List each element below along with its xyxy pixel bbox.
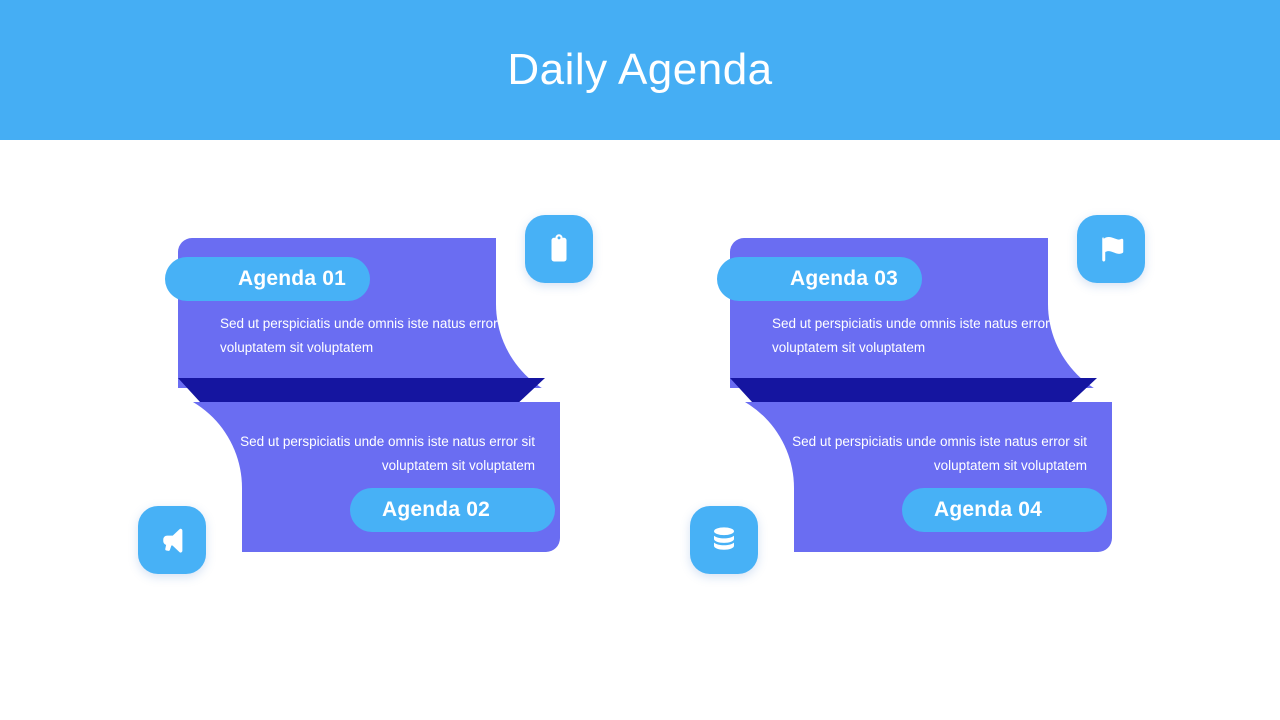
- slide-header: Daily Agenda: [0, 0, 1280, 140]
- clipboard-icon: [544, 234, 574, 264]
- page-title: Daily Agenda: [507, 48, 772, 92]
- agenda-02-description: Sed ut perspiciatis unde omnis iste natu…: [235, 430, 535, 478]
- agenda-02-label: Agenda 02: [382, 498, 490, 522]
- agenda-group-left: Sed ut perspiciatis unde omnis iste natu…: [130, 230, 690, 570]
- agenda-03-description: Sed ut perspiciatis unde omnis iste natu…: [772, 312, 1072, 360]
- agenda-03-icon-badge[interactable]: [1077, 215, 1145, 283]
- agenda-03-label-pill[interactable]: Agenda 03: [717, 257, 922, 301]
- agenda-02-icon-badge[interactable]: [138, 506, 206, 574]
- agenda-01-description: Sed ut perspiciatis unde omnis iste natu…: [220, 312, 520, 360]
- agenda-04-label-pill[interactable]: Agenda 04: [902, 488, 1107, 532]
- agenda-01-label: Agenda 01: [238, 267, 346, 291]
- agenda-04-icon-badge[interactable]: [690, 506, 758, 574]
- slide-canvas: Daily Agenda Sed ut perspiciatis unde om…: [0, 0, 1280, 720]
- agenda-01-label-pill[interactable]: Agenda 01: [165, 257, 370, 301]
- database-icon: [709, 525, 739, 555]
- agenda-01-icon-badge[interactable]: [525, 215, 593, 283]
- agenda-04-label: Agenda 04: [934, 498, 1042, 522]
- card-fold-band: [178, 378, 545, 402]
- agenda-group-right: Sed ut perspiciatis unde omnis iste natu…: [682, 230, 1242, 570]
- flag-icon: [1096, 234, 1126, 264]
- megaphone-icon: [157, 525, 187, 555]
- agenda-03-label: Agenda 03: [790, 267, 898, 291]
- card-fold-band: [730, 378, 1097, 402]
- agenda-02-label-pill[interactable]: Agenda 02: [350, 488, 555, 532]
- agenda-04-description: Sed ut perspiciatis unde omnis iste natu…: [787, 430, 1087, 478]
